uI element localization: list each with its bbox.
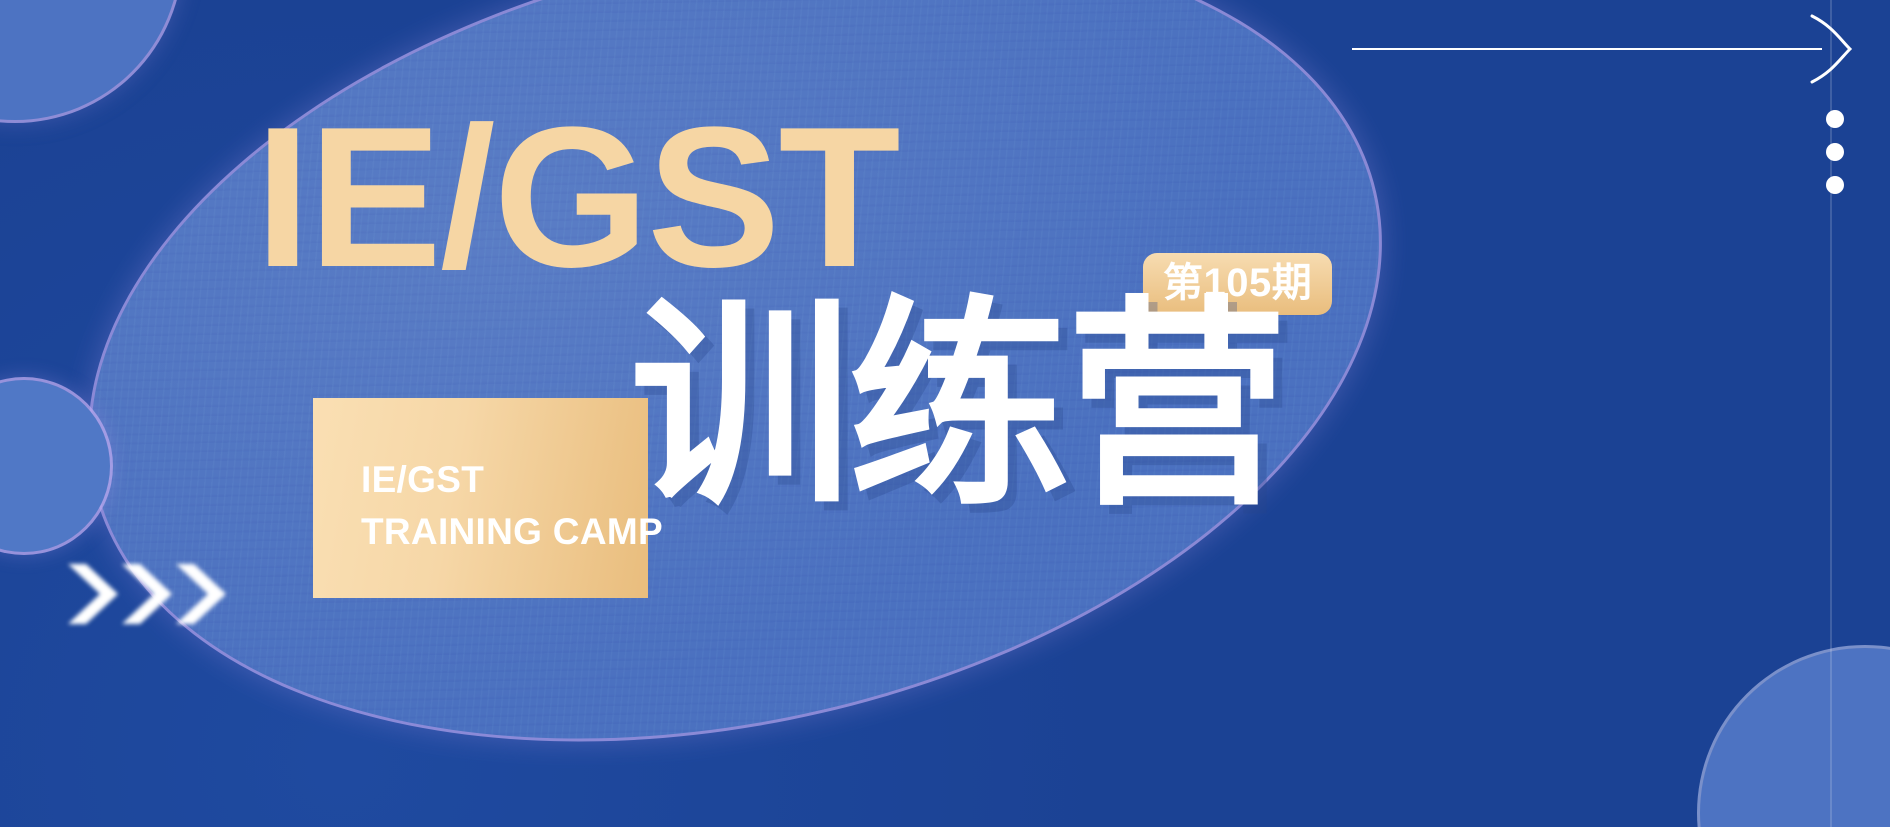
- caption-line-1: IE/GST: [361, 454, 663, 506]
- dot-1: [1826, 110, 1844, 128]
- caption-box: IE/GST TRAINING CAMP: [313, 398, 648, 598]
- dot-3: [1826, 176, 1844, 194]
- dot-2: [1826, 143, 1844, 161]
- promo-banner: IE/GST 第105期 IE/GST TRAINING CAMP 训练营: [0, 0, 1890, 827]
- decorative-circle-bottom-right: [1700, 648, 1890, 827]
- chevron-arrows-icon: [60, 558, 240, 630]
- caption-line-2: TRAINING CAMP: [361, 506, 663, 558]
- caption-lines: IE/GST TRAINING CAMP: [361, 454, 663, 558]
- arrow-rule-line: [1352, 48, 1822, 50]
- dots-indicator: [1826, 110, 1844, 194]
- decorative-circle-top-left: [0, 0, 180, 120]
- chinese-title: 训练营: [630, 296, 1284, 518]
- page-title: IE/GST: [255, 98, 899, 298]
- arrow-head-icon: [1806, 12, 1852, 86]
